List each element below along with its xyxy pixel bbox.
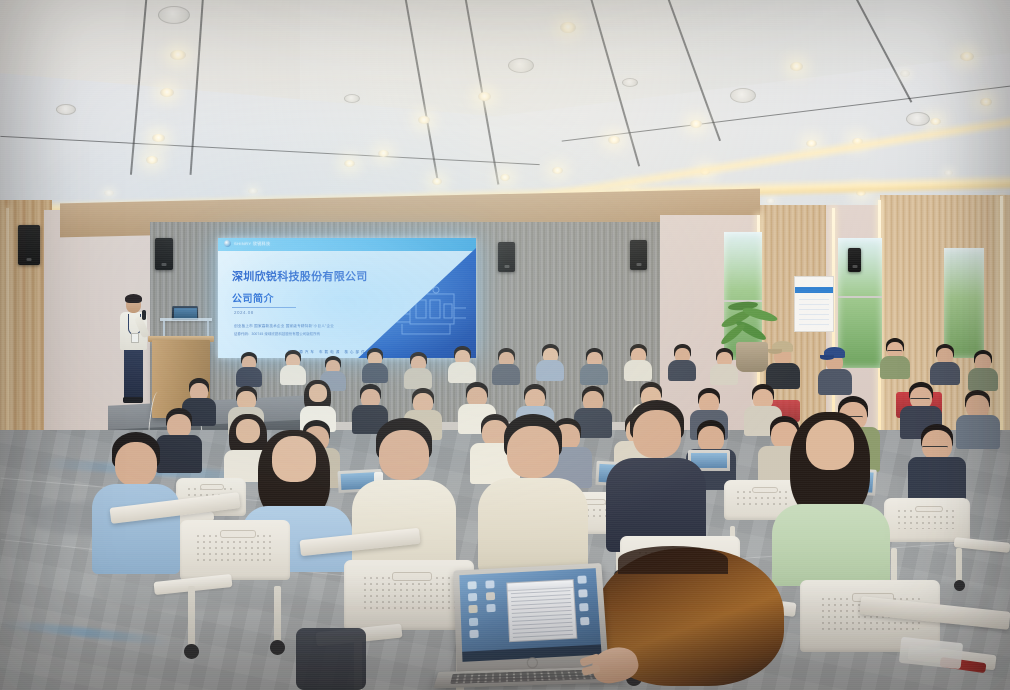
training-chair — [884, 498, 970, 566]
circuit-graphic-icon — [384, 278, 470, 340]
wall-led-strip — [1000, 196, 1003, 446]
laptop-screen[interactable] — [459, 568, 601, 662]
ceiling-downlight — [900, 70, 910, 77]
wall-speaker — [18, 225, 40, 265]
wall-speaker — [498, 242, 515, 272]
attendee-front — [478, 414, 588, 570]
ceiling-downlight — [790, 62, 803, 71]
ceiling-downlight — [170, 50, 186, 60]
attendee — [448, 346, 476, 382]
cap-brim-icon — [768, 349, 782, 354]
presenter — [118, 296, 152, 406]
hp-logo-icon — [527, 657, 539, 669]
ceiling-downlight — [500, 174, 510, 181]
attendee — [880, 338, 910, 378]
id-badge — [131, 333, 139, 343]
ceiling-downlight — [980, 98, 992, 106]
wall-speaker — [630, 240, 647, 270]
poster-header-band — [795, 287, 833, 293]
attendee — [710, 348, 738, 384]
slide-accent-triangle — [356, 248, 476, 358]
slide-divider — [232, 307, 296, 308]
attendee — [536, 344, 564, 380]
attendee — [968, 350, 998, 390]
conference-room-photo: SHINRY 欣锐科技 深圳欣锐科技股份有限公司 公司简介 — [0, 0, 1010, 690]
attendee — [236, 352, 262, 386]
ceiling-speaker-icon — [906, 112, 930, 126]
logo-text: SHINRY 欣锐科技 — [234, 241, 270, 247]
ceiling-downlight — [552, 167, 563, 174]
bag — [296, 628, 366, 690]
ceiling-downlight — [432, 178, 442, 185]
presenter-hair — [125, 294, 142, 303]
ceiling-downlight — [146, 156, 158, 164]
ceiling-downlight — [608, 136, 620, 144]
window-content-rows — [510, 590, 573, 639]
ceiling-downlight — [960, 52, 974, 61]
cap-brim-icon — [820, 355, 834, 360]
projection-screen: SHINRY 欣锐科技 深圳欣锐科技股份有限公司 公司简介 — [218, 238, 476, 358]
slide-footer-line-1: 创业板上市 国家高新技术企业 国家级专精特新“小巨人”企业 — [234, 324, 334, 329]
attendee — [580, 348, 608, 384]
slide-footer-line-2: 证券代码：300745 深圳欣锐科技股份有限公司版权所有 — [234, 331, 320, 336]
wall-speaker — [848, 248, 861, 272]
wall-notice-poster — [794, 276, 834, 332]
attendee — [668, 344, 696, 380]
ceiling-downlight — [160, 88, 174, 97]
attendee-front — [606, 400, 706, 550]
attendee — [362, 348, 388, 382]
slide-subtitle: 公司简介 — [232, 290, 274, 305]
plant-frond — [741, 305, 778, 324]
poster-text-lines — [799, 299, 829, 325]
carpet-accent — [0, 619, 170, 646]
attendee — [492, 348, 520, 384]
podium-glass-shelf — [160, 318, 212, 321]
ceiling-downlight — [690, 120, 702, 128]
attendee — [930, 344, 960, 384]
ceiling-downlight — [378, 150, 389, 157]
hair-part — [618, 546, 728, 574]
ceiling-speaker-icon — [508, 58, 534, 73]
ceiling-speaker-icon — [158, 6, 190, 24]
smoke-detector-icon — [344, 94, 360, 103]
plant-pot — [736, 342, 768, 372]
smoke-detector-icon — [622, 78, 638, 87]
company-logo: SHINRY 欣锐科技 — [224, 240, 270, 247]
attendee — [280, 350, 306, 384]
window-mullion — [838, 296, 882, 298]
wall-speaker — [155, 238, 173, 270]
ceiling-downlight — [418, 116, 430, 124]
ceiling-downlight — [104, 190, 114, 196]
slide-date: 2024.08 — [234, 310, 254, 315]
ceiling-downlight — [766, 198, 775, 204]
exterior-window — [944, 248, 984, 358]
presenter-legs — [124, 348, 143, 400]
ceiling-downlight — [560, 22, 576, 33]
ceiling-downlight — [248, 188, 258, 194]
presentation-slide: SHINRY 欣锐科技 深圳欣锐科技股份有限公司 公司简介 — [218, 238, 476, 358]
attendee — [908, 424, 966, 504]
file-explorer-window[interactable] — [506, 580, 577, 643]
attendee — [404, 352, 432, 388]
ceiling-speaker-icon — [730, 88, 756, 103]
ceiling-downlight — [152, 134, 165, 142]
presenter-shoes — [123, 397, 143, 403]
attendee-with-cap — [818, 346, 852, 392]
attendee-with-cap — [766, 340, 800, 386]
training-chair — [180, 520, 290, 640]
attendee — [624, 344, 652, 380]
logo-mark-icon — [224, 240, 231, 247]
ceiling-downlight — [344, 160, 355, 167]
microphone-icon — [142, 310, 146, 320]
ceiling-downlight — [930, 118, 941, 125]
ceiling-downlight — [478, 92, 491, 101]
slide-title: 深圳欣锐科技股份有限公司 — [232, 268, 368, 284]
smoke-detector-icon — [56, 104, 76, 115]
